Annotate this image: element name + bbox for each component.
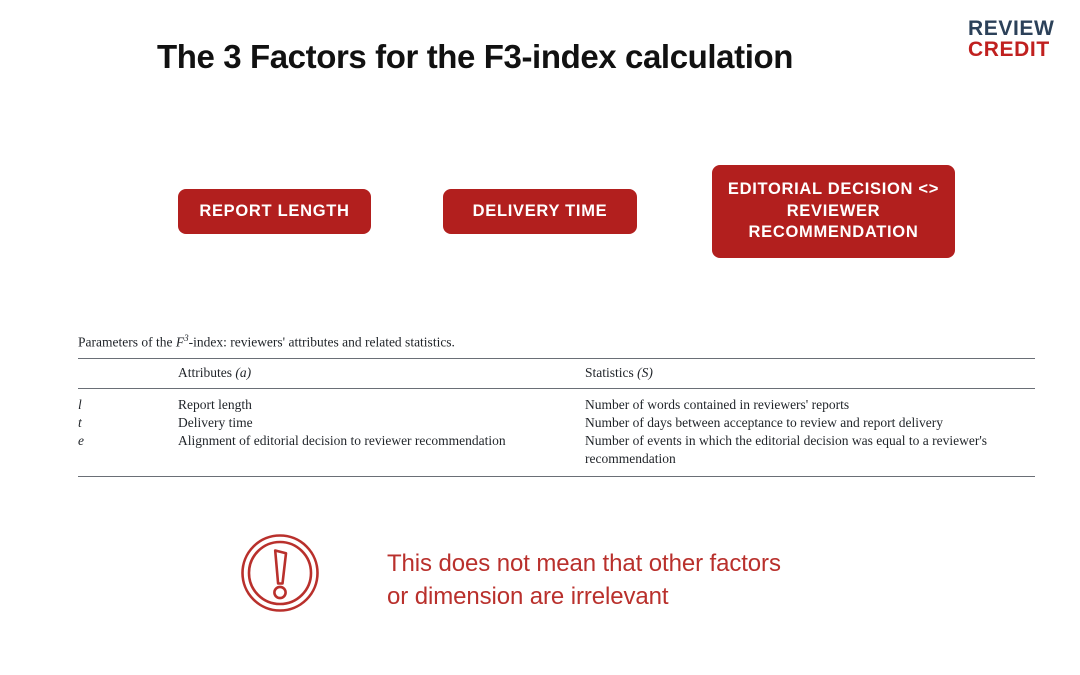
brand-logo: REVIEW CREDIT [968, 18, 1080, 61]
factor-button-delivery-time[interactable]: DELIVERY TIME [443, 189, 637, 234]
row-symbol: e [78, 432, 178, 468]
warning-line-1: This does not mean that other factors [387, 548, 947, 581]
column-header-symbol [78, 365, 178, 381]
table-rule-bottom [78, 476, 1035, 477]
caption-prefix: Parameters of the [78, 335, 176, 350]
warning-line-2: or dimension are irrelevant [387, 581, 947, 614]
table-caption: Parameters of the F3-index: reviewers' a… [78, 332, 1035, 358]
parameters-table: Parameters of the F3-index: reviewers' a… [78, 332, 1035, 477]
column-header-attributes-param: (a) [235, 365, 251, 380]
caption-symbol: F [176, 335, 184, 350]
row-statistic: Number of days between acceptance to rev… [585, 414, 1035, 432]
table-header-row: Attributes (a) Statistics (S) [78, 359, 1035, 388]
row-attribute: Alignment of editorial decision to revie… [178, 432, 585, 468]
warning-message: This does not mean that other factors or… [387, 548, 947, 613]
table-row: t Delivery time Number of days between a… [78, 414, 1035, 432]
exclamation-circle-icon [240, 533, 320, 613]
table-row: e Alignment of editorial decision to rev… [78, 432, 1035, 468]
row-attribute: Delivery time [178, 414, 585, 432]
factor-button-editorial-decision[interactable]: EDITORIAL DECISION <> REVIEWER RECOMMEND… [712, 165, 955, 258]
column-header-statistics-label: Statistics [585, 365, 634, 380]
factor-button-report-length[interactable]: REPORT LENGTH [178, 189, 371, 234]
row-statistic: Number of events in which the editorial … [585, 432, 1035, 468]
row-statistic: Number of words contained in reviewers' … [585, 396, 1035, 414]
row-symbol: t [78, 414, 178, 432]
page-title: The 3 Factors for the F3-index calculati… [0, 38, 950, 76]
column-header-attributes: Attributes (a) [178, 365, 585, 381]
logo-line-credit: CREDIT [968, 39, 1080, 60]
row-symbol: l [78, 396, 178, 414]
table-body: l Report length Number of words containe… [78, 389, 1035, 476]
column-header-statistics: Statistics (S) [585, 365, 1035, 381]
caption-suffix: -index: reviewers' attributes and relate… [189, 335, 455, 350]
table-row: l Report length Number of words containe… [78, 396, 1035, 414]
logo-line-review: REVIEW [968, 18, 1080, 39]
column-header-attributes-label: Attributes [178, 365, 232, 380]
row-attribute: Report length [178, 396, 585, 414]
column-header-statistics-param: (S) [637, 365, 653, 380]
